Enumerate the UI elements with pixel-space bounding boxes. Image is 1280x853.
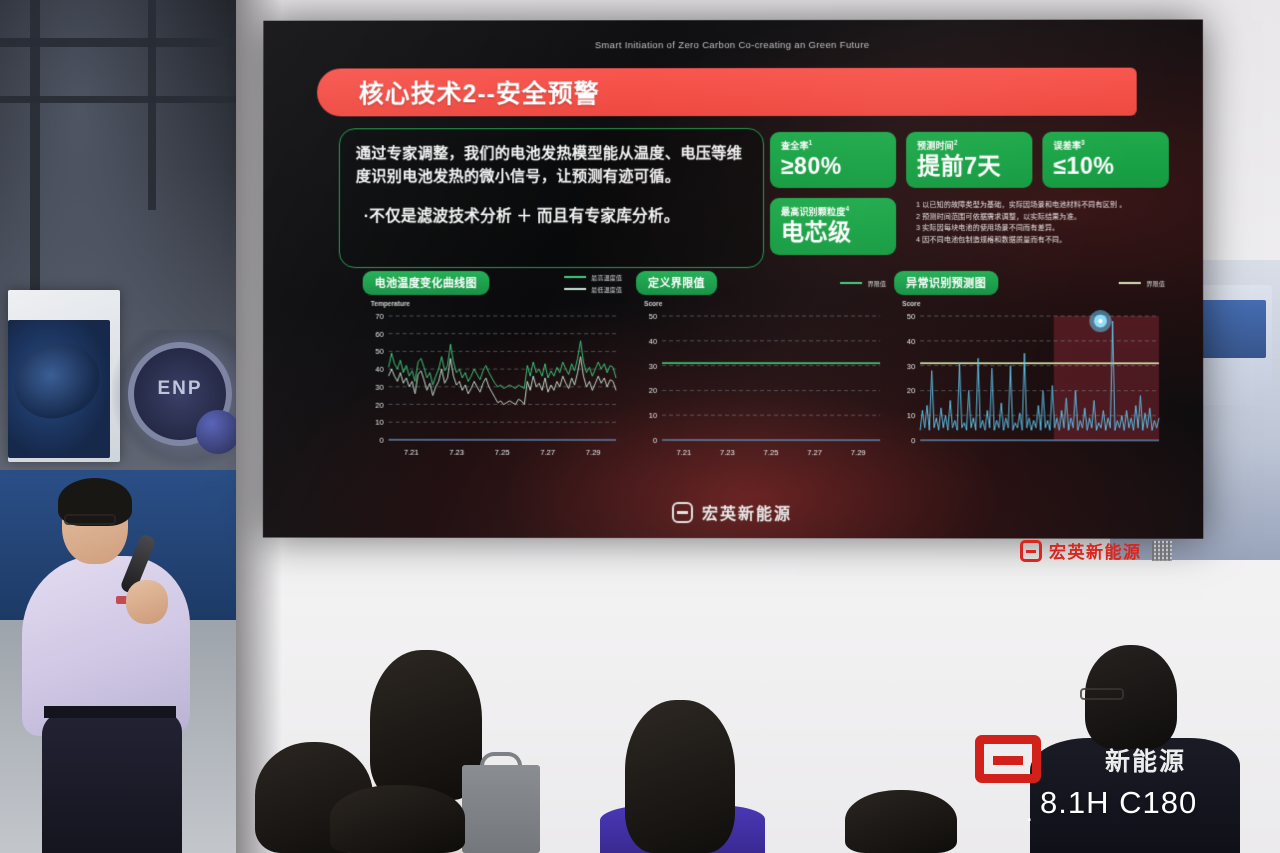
- stat-footnote-ref: 2: [954, 140, 958, 147]
- chart-legend: 界限值: [1119, 278, 1165, 287]
- footnote-item: 1 以已知的故障类型为基础，实际因场景和电池材料不同有区别 。: [916, 200, 1169, 212]
- footnote-item: 2 预测时间范围可依据需求调整，以实际结果为准。: [916, 212, 1169, 224]
- stat-row-top: 查全率1 ≥80% 预测时间2 提前7天 误差率3 ≤10%: [770, 132, 1171, 189]
- presentation-screen[interactable]: Smart Initiation of Zero Carbon Co-creat…: [263, 20, 1203, 539]
- company-name: 宏英新能源: [1049, 538, 1142, 563]
- chart-canvas: 10203040500: [894, 310, 1165, 462]
- stat-cards: 查全率1 ≥80% 预测时间2 提前7天 误差率3 ≤10% 最高识别颗粒度4: [770, 132, 1171, 255]
- stat-footnote-ref: 3: [1081, 140, 1085, 147]
- company-name: 宏英新能源: [702, 500, 792, 524]
- legend-label: 界限值: [868, 278, 887, 287]
- wall-brand-logo: 宏英新能源: [1020, 538, 1172, 563]
- svg-text:30: 30: [375, 383, 383, 392]
- legend-entry: 最低温度值: [564, 284, 622, 293]
- svg-text:7.27: 7.27: [807, 448, 822, 457]
- footnote-item: 3 实际因每块电池的使用场景不同而有差异。: [916, 223, 1169, 235]
- y-axis-label: Score: [902, 301, 1165, 308]
- slide-subtitle: Smart Initiation of Zero Carbon Co-creat…: [263, 40, 1203, 52]
- svg-text:7.25: 7.25: [764, 448, 779, 457]
- description-bullet: ·不仅是滤波技术分析 ＋ 而且有专家库分析。: [356, 204, 747, 226]
- svg-text:7.23: 7.23: [449, 448, 464, 457]
- legend-entry: 界限值: [840, 278, 886, 287]
- hall-number: 8.1H C180: [1040, 785, 1197, 821]
- chart-title: 电池温度变化曲线图: [363, 271, 489, 295]
- svg-text:7.29: 7.29: [851, 448, 866, 457]
- enp-booth-accent-sphere: [196, 410, 240, 454]
- chart-canvas: 102030405007.217.237.257.277.29: [636, 310, 886, 462]
- stat-footnote-ref: 1: [809, 140, 813, 147]
- svg-text:7.21: 7.21: [676, 448, 691, 457]
- svg-text:10: 10: [649, 411, 657, 420]
- chart-threshold-definition: 定义界限值 界限值 Score 102030405007.217.237.257…: [636, 272, 886, 477]
- svg-text:10: 10: [375, 418, 383, 427]
- svg-text:60: 60: [375, 330, 383, 339]
- chart-header: 电池温度变化曲线图 最高温度值 最低温度值: [363, 272, 622, 294]
- stat-label: 预测时间2: [917, 139, 1022, 152]
- y-axis-label: Temperature: [371, 301, 622, 308]
- wall-partial-brand-text: 新能源: [1105, 742, 1186, 778]
- legend-label: 最高温度值: [591, 273, 622, 282]
- qr-code-icon: [1152, 541, 1172, 561]
- y-axis-label: Score: [644, 301, 886, 308]
- chart-row: 电池温度变化曲线图 最高温度值 最低温度值 Tempe: [263, 272, 1203, 478]
- chart-plot-area: 10203040500: [894, 310, 1165, 462]
- slide-canvas: Smart Initiation of Zero Carbon Co-creat…: [263, 20, 1203, 539]
- description-body: 通过专家调整，我们的电池发热模型能从温度、电压等维度识别电池发热的微小信号，让预…: [356, 143, 747, 188]
- svg-text:7.25: 7.25: [495, 448, 510, 457]
- svg-text:0: 0: [911, 436, 915, 445]
- wall-large-mark-icon: [975, 735, 1041, 783]
- legend-swatch-icon: [564, 288, 586, 290]
- stat-label: 误差率3: [1053, 139, 1158, 152]
- svg-text:7.23: 7.23: [720, 448, 735, 457]
- chart-legend: 界限值: [840, 278, 886, 287]
- legend-entry: 界限值: [1119, 278, 1165, 287]
- hall-number-dot: .: [1026, 800, 1033, 828]
- stat-footnote-ref: 4: [845, 206, 849, 213]
- legend-swatch-icon: [840, 282, 862, 284]
- svg-text:7.21: 7.21: [404, 448, 419, 457]
- svg-text:10: 10: [907, 411, 915, 420]
- svg-text:30: 30: [907, 362, 915, 371]
- stat-card-recall: 查全率1 ≥80%: [770, 132, 896, 188]
- stat-card-error-rate: 误差率3 ≤10%: [1042, 132, 1168, 188]
- svg-text:50: 50: [907, 312, 915, 321]
- svg-text:0: 0: [653, 436, 657, 445]
- chart-header: 定义界限值 界限值: [636, 272, 886, 294]
- stat-value: 电芯级: [781, 220, 886, 245]
- svg-text:50: 50: [375, 347, 383, 356]
- stat-value: ≥80%: [781, 154, 886, 179]
- chart-canvas: 1020304050607007.217.237.257.277.29: [363, 310, 622, 462]
- svg-text:7.29: 7.29: [586, 448, 601, 457]
- svg-text:20: 20: [907, 387, 915, 396]
- svg-text:40: 40: [375, 365, 383, 374]
- stat-row-bottom: 最高识别颗粒度4 电芯级 1 以已知的故障类型为基础，实际因场景和电池材料不同有…: [770, 188, 1171, 254]
- svg-text:70: 70: [375, 312, 383, 321]
- chart-title: 异常识别预测图: [894, 271, 998, 295]
- page-title: 核心技术2--安全预警: [359, 74, 600, 110]
- screenshot-root: ENP Smart Initiation of Zero Carbon Co-c…: [0, 0, 1280, 853]
- ceiling-truss: [148, 0, 156, 210]
- chart-plot-area: 102030405007.217.237.257.277.29: [636, 310, 886, 462]
- stat-card-granularity: 最高识别颗粒度4 电芯级: [770, 198, 896, 254]
- stat-value: 提前7天: [917, 154, 1022, 179]
- chart-title: 定义界限值: [636, 271, 717, 295]
- svg-text:40: 40: [649, 337, 657, 346]
- legend-label: 最低温度值: [591, 284, 622, 293]
- slide-title-banner: 核心技术2--安全预警: [317, 68, 1137, 117]
- stat-card-prediction-time: 预测时间2 提前7天: [906, 132, 1032, 188]
- chart-battery-temperature: 电池温度变化曲线图 最高温度值 最低温度值 Tempe: [363, 272, 622, 477]
- svg-text:20: 20: [649, 386, 657, 395]
- ceiling-truss: [0, 38, 250, 47]
- enp-booth-logo-text: ENP: [143, 378, 217, 400]
- footnote-list: 1 以已知的故障类型为基础，实际因场景和电池材料不同有区别 。 2 预测时间范围…: [916, 200, 1169, 254]
- chart-plot-area: 1020304050607007.217.237.257.277.29: [363, 310, 622, 462]
- description-panel: 通过专家调整，我们的电池发热模型能从温度、电压等维度识别电池发热的微小信号，让预…: [339, 128, 764, 268]
- slide-footer-logo: 宏英新能源: [263, 500, 1203, 525]
- svg-text:7.27: 7.27: [540, 448, 555, 457]
- hall-floor: [0, 470, 262, 620]
- company-mark-icon: [1020, 540, 1042, 562]
- stat-label: 最高识别颗粒度4: [781, 205, 886, 218]
- stat-label: 查全率1: [781, 139, 886, 152]
- svg-text:0: 0: [379, 436, 383, 445]
- chart-legend: 最高温度值 最低温度值: [564, 273, 622, 294]
- company-mark-icon: [672, 502, 693, 523]
- legend-swatch-icon: [564, 276, 586, 278]
- svg-text:30: 30: [649, 362, 657, 371]
- chart-anomaly-prediction: 异常识别预测图 界限值 Score 10203040500: [894, 272, 1165, 478]
- ceiling-truss: [0, 96, 250, 103]
- legend-swatch-icon: [1119, 282, 1141, 284]
- legend-label: 界限值: [1146, 278, 1165, 287]
- svg-text:40: 40: [907, 337, 915, 346]
- footnote-item: 4 因不同电池包制造规格和数据质量而有不同。: [916, 235, 1169, 247]
- chart-header: 异常识别预测图 界限值: [894, 272, 1165, 294]
- svg-text:20: 20: [375, 400, 383, 409]
- stat-value: ≤10%: [1053, 154, 1158, 179]
- legend-entry: 最高温度值: [564, 273, 622, 282]
- svg-text:50: 50: [649, 312, 657, 321]
